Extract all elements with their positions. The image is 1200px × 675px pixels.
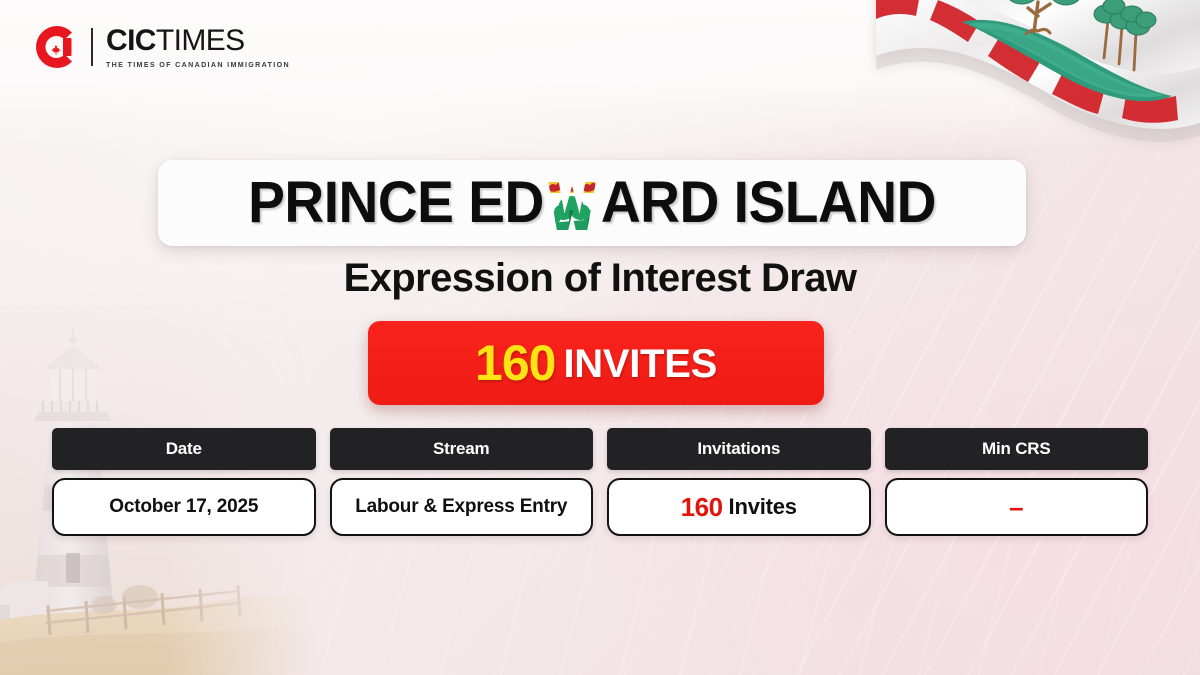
- logo-name-secondary: TIMES: [156, 24, 245, 57]
- page-title: PRINCE ED: [248, 174, 936, 232]
- brand-logo[interactable]: CICTIMES THE TIMES OF CANADIAN IMMIGRATI…: [34, 24, 290, 70]
- title-card: PRINCE ED: [158, 160, 1026, 246]
- table-row: October 17, 2025 Labour & Express Entry …: [52, 478, 1148, 536]
- logo-tagline: THE TIMES OF CANADIAN IMMIGRATION: [106, 61, 290, 69]
- cell-invitations-number: 160: [681, 492, 723, 523]
- cell-invitations-suffix: Invites: [729, 494, 797, 520]
- title-text-before: PRINCE ED: [248, 174, 544, 232]
- cic-c-maple-leaf-icon: [34, 24, 80, 70]
- table-header-stream: Stream: [330, 428, 594, 470]
- cell-invitations: 160 Invites: [607, 478, 871, 536]
- poster-canvas: CICTIMES THE TIMES OF CANADIAN IMMIGRATI…: [0, 0, 1200, 675]
- table-header-date: Date: [52, 428, 316, 470]
- table-header-invitations: Invitations: [607, 428, 871, 470]
- cell-date: October 17, 2025: [52, 478, 316, 536]
- invites-banner-label: INVITES: [563, 344, 717, 384]
- logo-wordmark: CICTIMES THE TIMES OF CANADIAN IMMIGRATI…: [106, 26, 290, 69]
- prince-edward-island-flag-icon: [876, 0, 1200, 186]
- logo-divider: [91, 28, 93, 66]
- cell-stream: Labour & Express Entry: [330, 478, 594, 536]
- invites-banner-number: 160: [475, 338, 555, 388]
- cell-min-crs-value: –: [1009, 497, 1023, 518]
- table-header-row: Date Stream Invitations Min CRS: [52, 428, 1148, 470]
- cell-min-crs: –: [885, 478, 1149, 536]
- draw-details-table: Date Stream Invitations Min CRS October …: [52, 428, 1148, 536]
- table-header-min-crs: Min CRS: [885, 428, 1149, 470]
- title-text-after: ARD ISLAND: [601, 174, 936, 232]
- page-subtitle: Expression of Interest Draw: [0, 256, 1200, 301]
- invites-banner: 160 INVITES: [368, 321, 824, 405]
- logo-name-primary: CIC: [106, 24, 156, 57]
- pei-flag-letter-w-icon: [545, 176, 600, 234]
